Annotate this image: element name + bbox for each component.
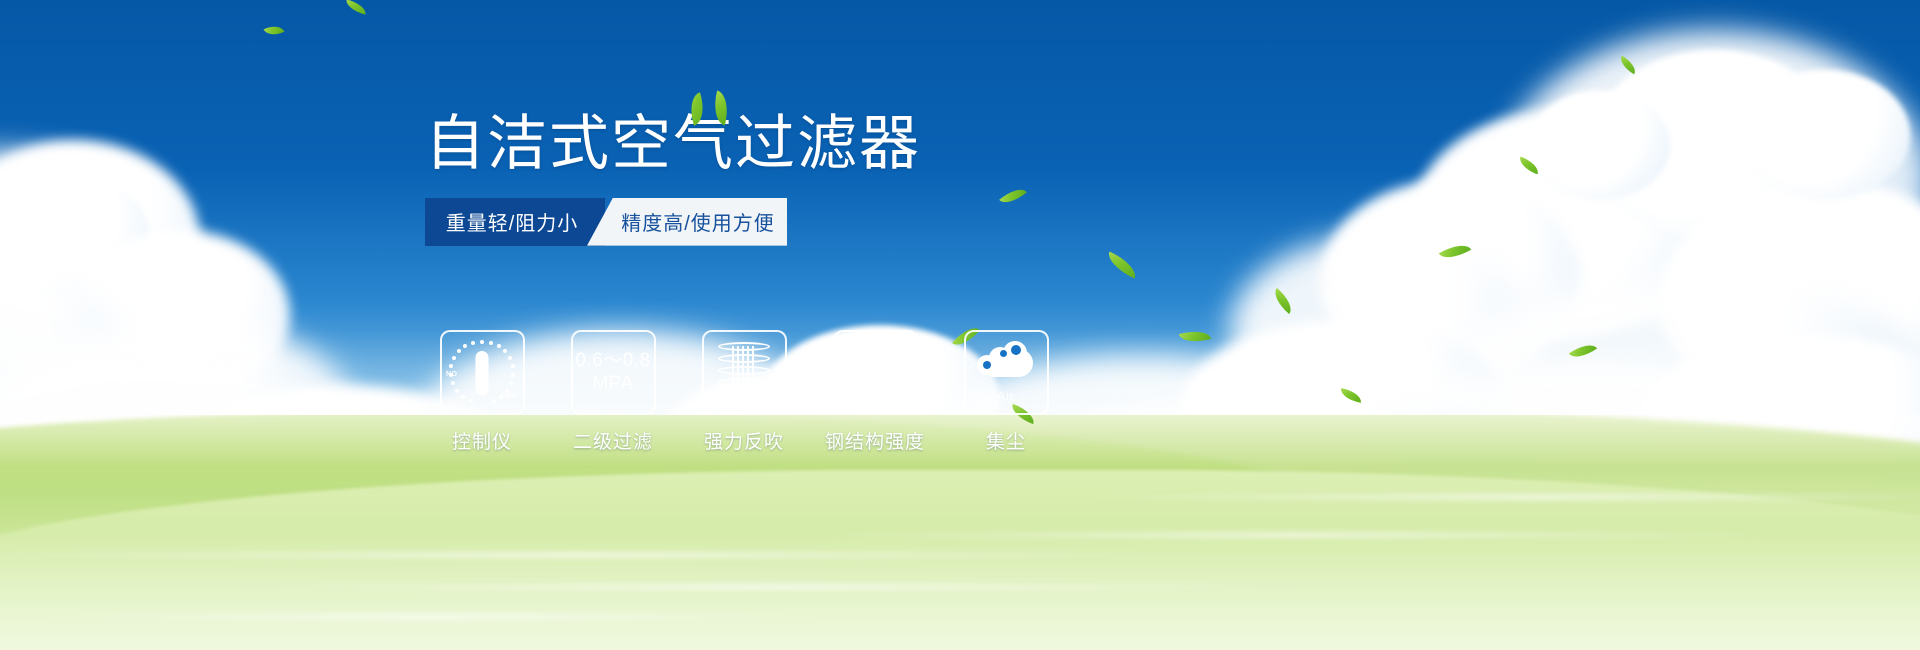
feature-label: 强力反吹 xyxy=(704,427,784,454)
air-cloud-icon: Air xyxy=(964,330,1049,415)
feature-item-controller[interactable]: NO OFF 控制仪 xyxy=(438,330,526,454)
feature-label: 集尘 xyxy=(986,427,1026,454)
feature-item-two-stage-filter[interactable]: 0.6～0.8 MPA 二级过滤 xyxy=(569,330,657,454)
feature-tabs: 重量轻/阻力小 精度高/使用方便 xyxy=(425,198,755,246)
title-leaf-icon xyxy=(683,90,743,130)
page-title: 自洁式空气过滤器 xyxy=(425,112,1065,176)
leaf-icon xyxy=(1104,251,1141,278)
leaf-icon xyxy=(264,22,285,40)
feature-item-dust-collection[interactable]: Air 集尘 xyxy=(962,330,1050,454)
pressure-text-icon: 0.6～0.8 MPA xyxy=(571,330,656,415)
tab-label: 重量轻/阻力小 xyxy=(446,207,579,236)
gauge-icon: NO OFF xyxy=(440,330,525,415)
gauge-label-off: OFF xyxy=(502,393,518,400)
feature-label: 控制仪 xyxy=(452,427,512,454)
icon-text-air: Air xyxy=(997,389,1015,403)
tab-label: 精度高/使用方便 xyxy=(621,207,775,236)
icon-text-line2: 钢板 xyxy=(855,373,894,395)
feature-label: 钢结构强度 xyxy=(825,427,925,454)
feature-item-steel-strength[interactable]: 3～8MM 钢板 钢结构强度 xyxy=(831,330,919,454)
feature-item-backblow[interactable]: 强力反吹 xyxy=(700,330,788,454)
steel-plate-text-icon: 3～8MM 钢板 xyxy=(833,330,918,415)
hero-content: 自洁式空气过滤器 重量轻/阻力小 精度高/使用方便 xyxy=(425,112,1065,246)
feature-list: NO OFF 控制仪 0.6～0.8 MPA 二级过滤 xyxy=(438,330,1050,454)
icon-text-line1: 0.6～0.8 xyxy=(575,350,650,372)
tab-precision-convenience[interactable]: 精度高/使用方便 xyxy=(587,198,787,246)
feature-label: 二级过滤 xyxy=(573,427,653,454)
icon-text-line1: 3～8MM xyxy=(838,350,912,372)
leaf-icon xyxy=(344,0,368,15)
icon-text-line2: MPA xyxy=(592,373,633,395)
tab-weight-resistance[interactable]: 重量轻/阻力小 xyxy=(425,198,605,246)
gauge-label-no: NO xyxy=(446,371,458,378)
product-hero-banner: 自洁式空气过滤器 重量轻/阻力小 精度高/使用方便 xyxy=(0,0,1920,650)
coil-filter-icon xyxy=(702,330,787,415)
